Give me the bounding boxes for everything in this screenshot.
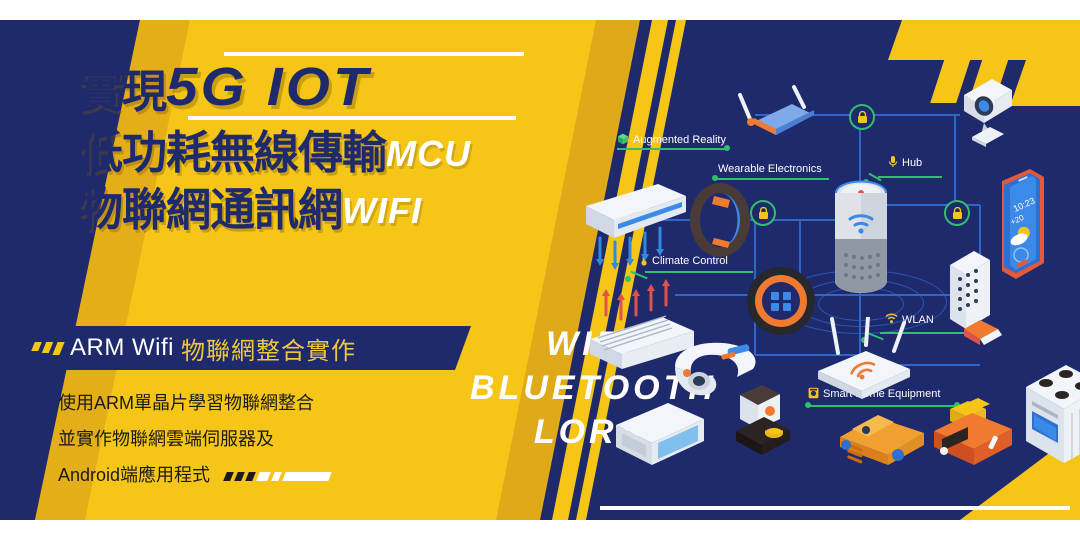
lock-icon-right bbox=[944, 200, 970, 226]
body-copy-line-1: 使用ARM單晶片學習物聯網整合 bbox=[58, 385, 398, 421]
headline-line2-cjk: 低功耗無線傳輸 bbox=[78, 130, 386, 175]
headline-block: 實現 5G IOT 低功耗無線傳輸 MCU 物聯網通訊網 WIFI bbox=[78, 52, 548, 232]
label-augmented-reality-text: Augmented Reality bbox=[633, 134, 726, 146]
subtitle-cjk: 物聯網整合實作 bbox=[181, 331, 356, 366]
top-right-yellow-slab bbox=[880, 20, 1080, 60]
top-white-margin bbox=[0, 0, 1080, 20]
smartwatch-device bbox=[684, 180, 756, 260]
label-augmented-reality: Augmented Reality bbox=[617, 133, 726, 147]
wifi-router-device bbox=[810, 317, 918, 399]
air-conditioner-device bbox=[582, 180, 692, 272]
microphone-icon bbox=[888, 155, 898, 170]
headline-line-1: 實現 5G IOT bbox=[78, 60, 548, 114]
headline-line1-cjk: 實現 bbox=[78, 69, 166, 114]
leader-augmented-reality bbox=[617, 148, 727, 150]
body-copy-line-3: Android端應用程式 bbox=[58, 465, 210, 485]
iot-course-banner: 實現 5G IOT 低功耗無線傳輸 MCU 物聯網通訊網 WIFI ARM Wi… bbox=[0, 0, 1080, 540]
smart-speaker-hub-device bbox=[832, 177, 890, 309]
headline-rule-top bbox=[224, 52, 524, 56]
oven-device bbox=[1022, 363, 1080, 469]
subtitle-latin: ARM Wifi bbox=[70, 334, 174, 362]
lock-icon-top bbox=[849, 104, 875, 130]
label-wearable-electronics: Wearable Electronics bbox=[718, 163, 822, 175]
thermostat-dial-device bbox=[745, 265, 817, 337]
headline-line-2: 低功耗無線傳輸 MCU bbox=[78, 130, 548, 175]
label-hub: Hub bbox=[888, 155, 922, 170]
label-wearable-electronics-text: Wearable Electronics bbox=[718, 163, 822, 175]
bottom-white-margin bbox=[0, 520, 1080, 540]
body-copy-line-3-wrap: Android端應用程式 bbox=[58, 457, 398, 493]
iot-network-diagram: Augmented Reality Wearable Electronics H… bbox=[560, 55, 1080, 475]
microwave-device bbox=[612, 395, 708, 467]
subtitle-bar: ARM Wifi 物聯網整合實作 bbox=[0, 326, 455, 370]
label-hub-text: Hub bbox=[902, 157, 922, 169]
cube-icon bbox=[617, 133, 629, 147]
underline-dashes-icon bbox=[225, 472, 330, 481]
headline-line-3: 物聯網通訊網 WIFI bbox=[78, 187, 548, 232]
robot-vacuum-device bbox=[832, 403, 936, 469]
tick-marks-icon bbox=[33, 342, 62, 355]
headline-line3-latin: WIFI bbox=[342, 193, 422, 229]
ar-glasses-device bbox=[732, 85, 828, 147]
headline-line3-cjk: 物聯網通訊網 bbox=[78, 187, 342, 232]
body-copy: 使用ARM單晶片學習物聯網整合 並實作物聯網雲端伺服器及 Android端應用程… bbox=[58, 385, 398, 493]
coffee-machine-device bbox=[718, 381, 810, 467]
bottom-white-rule bbox=[600, 506, 1070, 510]
door-lock-device bbox=[940, 243, 1006, 355]
leader-dot-ar bbox=[724, 145, 730, 151]
headline-line1-latin: 5G IOT bbox=[166, 60, 371, 114]
body-copy-line-2: 並實作物聯網雲端伺服器及 bbox=[58, 421, 398, 457]
security-camera-device bbox=[956, 73, 1018, 147]
toaster-device bbox=[928, 395, 1018, 471]
headline-line2-latin: MCU bbox=[386, 136, 471, 172]
